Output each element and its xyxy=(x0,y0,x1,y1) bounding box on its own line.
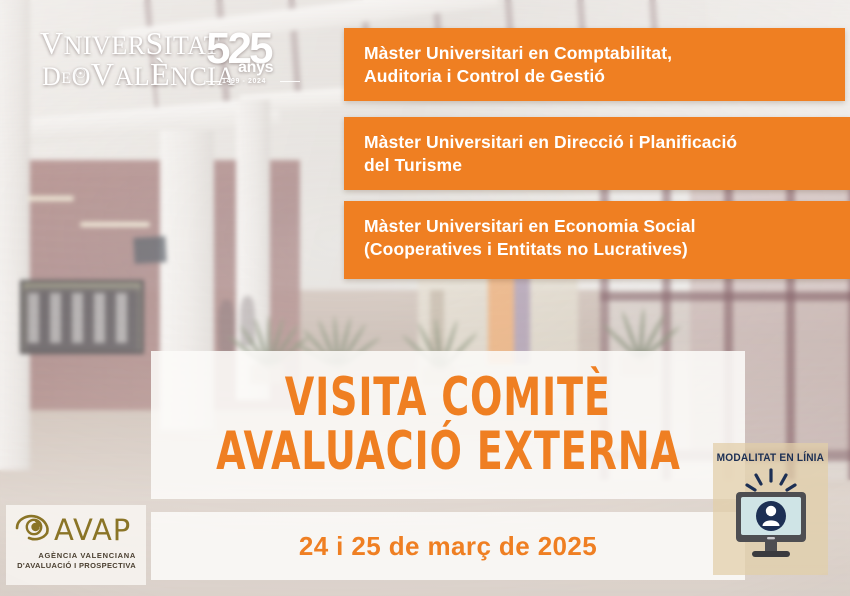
avap-subtitle-line-1: AGÈNCIA VALENCIANA xyxy=(14,551,136,561)
program-banner-2-line-2: del Turisme xyxy=(364,154,832,177)
anniversary-word: anys xyxy=(238,59,273,77)
program-banner-1-line-1: Màster Universitari en Comptabilitat, xyxy=(364,42,827,65)
program-banner-3: Màster Universitari en Economia Social (… xyxy=(344,201,850,279)
main-title-panel: VISITA COMITÈ AVALUACIÓ EXTERNA xyxy=(151,351,745,499)
main-title-line-2: AVALUACIÓ EXTERNA xyxy=(216,425,681,479)
online-mode-badge: MODALITAT EN LÍNIA xyxy=(713,443,828,575)
program-banner-2-line-1: Màster Universitari en Direcció i Planif… xyxy=(364,131,832,154)
avap-logo: AVAP AGÈNCIA VALENCIANA D'AVALUACIÓ I PR… xyxy=(6,505,146,585)
program-banner-1: Màster Universitari en Comptabilitat, Au… xyxy=(344,28,845,101)
date-panel: 24 i 25 de març de 2025 xyxy=(151,512,745,580)
program-banner-3-line-2: (Cooperatives i Entitats no Lucratives) xyxy=(364,238,832,261)
program-banner-2: Màster Universitari en Direcció i Planif… xyxy=(344,117,850,190)
desktop-monitor-person-icon xyxy=(728,468,814,565)
anniversary-525-logo: 525 anys 1499 - 2024 xyxy=(206,31,326,87)
anniversary-rule-left xyxy=(206,81,220,82)
avap-subtitle: AGÈNCIA VALENCIANA D'AVALUACIÓ I PROSPEC… xyxy=(14,551,138,571)
anniversary-years: 1499 - 2024 xyxy=(222,78,266,85)
owl-icon: ☉ xyxy=(75,67,87,80)
avap-subtitle-line-2: D'AVALUACIÓ I PROSPECTIVA xyxy=(14,561,136,571)
program-banner-3-line-1: Màster Universitari en Economia Social xyxy=(364,215,832,238)
event-date: 24 i 25 de març de 2025 xyxy=(299,531,597,562)
anniversary-rule-right xyxy=(280,81,300,82)
avap-logo-top: AVAP xyxy=(14,511,138,549)
online-mode-label: MODALITAT EN LÍNIA xyxy=(717,452,825,464)
main-title-line-1: VISITA COMITÈ xyxy=(285,371,611,425)
program-banner-1-line-2: Auditoria i Control de Gestió xyxy=(364,65,827,88)
eye-swirl-icon xyxy=(14,513,52,548)
avap-acronym: AVAP xyxy=(54,516,131,545)
poster-canvas: VNIVERSITAT DE☉ОVALÈNCIA 525 anys 1499 -… xyxy=(0,0,850,596)
